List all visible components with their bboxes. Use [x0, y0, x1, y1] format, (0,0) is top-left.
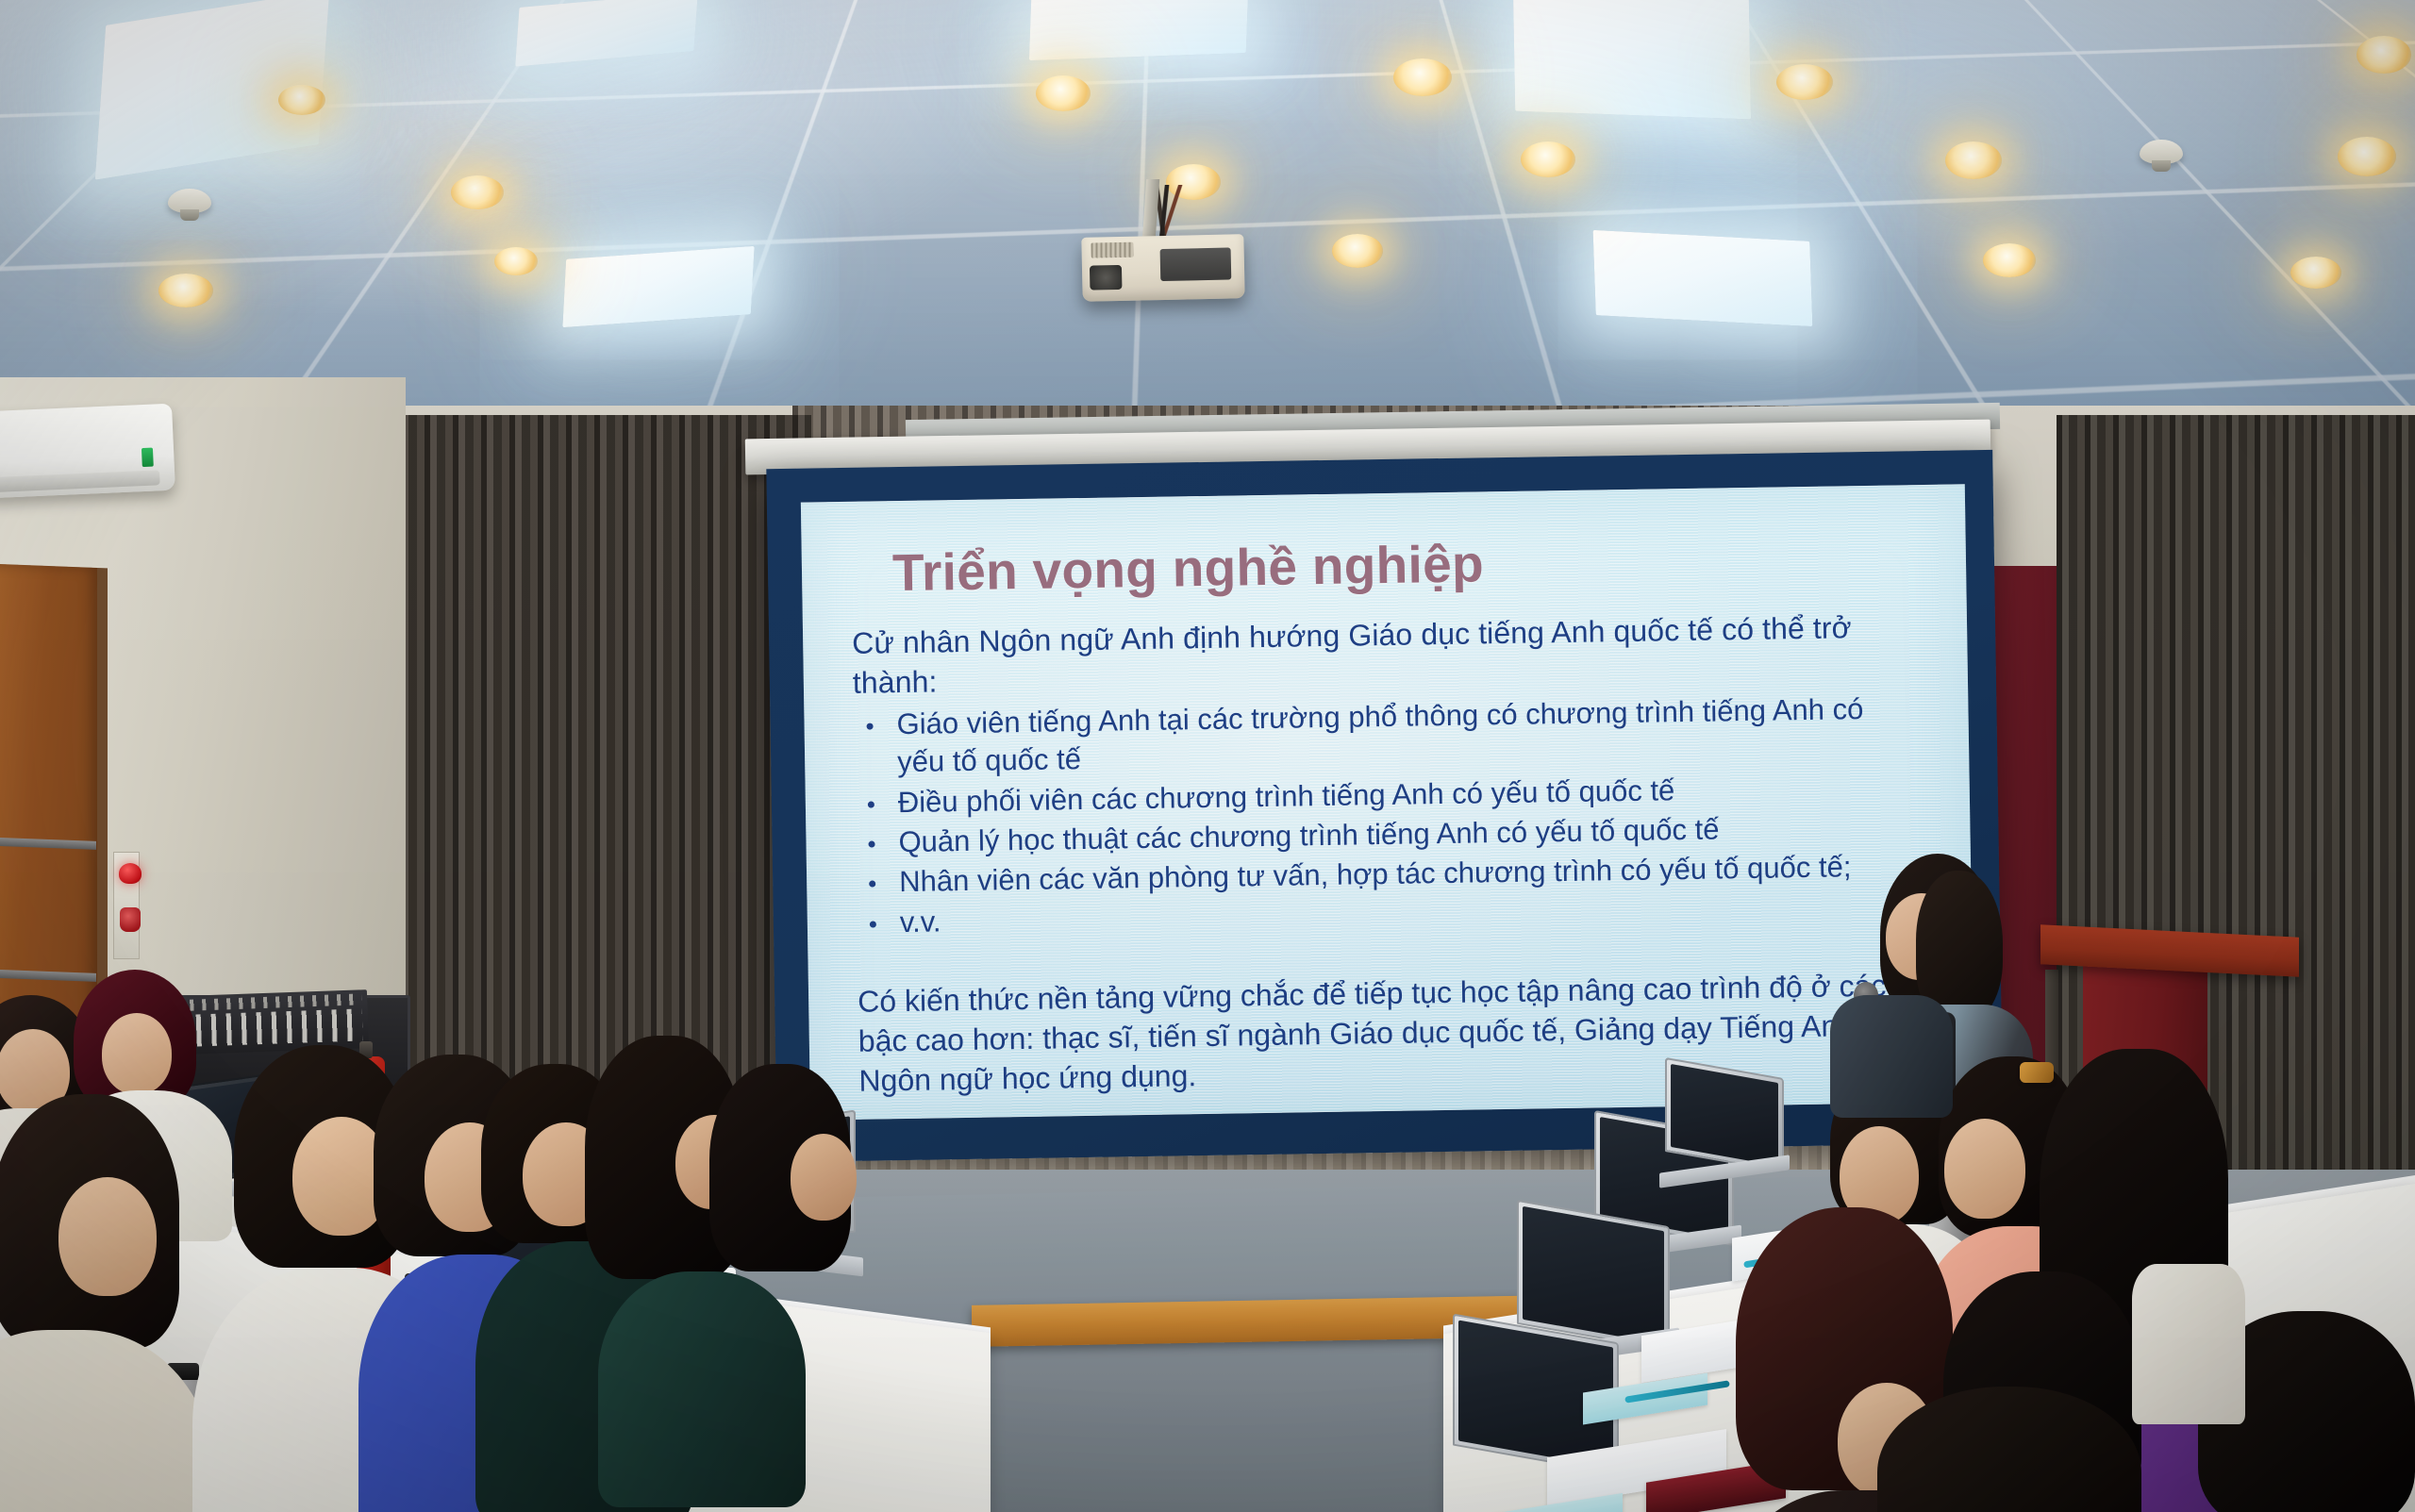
- attendee-head: [1944, 1119, 2025, 1219]
- conference-room-scene: Triển vọng nghề nghiệp Cử nhân Ngôn ngữ …: [0, 0, 2415, 1512]
- ceiling-panel-light: [1029, 0, 1248, 60]
- attendee-head: [58, 1177, 157, 1296]
- projector-icon: [1081, 234, 1244, 302]
- projector-vent: [1091, 242, 1134, 258]
- ceiling-downlight: [1983, 243, 2036, 277]
- ceiling-downlight: [2338, 137, 2396, 176]
- ceiling-downlight: [278, 85, 325, 115]
- fire-alarm-strobe-icon: [120, 907, 141, 932]
- door-push-bar: [0, 837, 96, 850]
- laptop-screen: [1523, 1206, 1664, 1344]
- attendee-torso: [1830, 995, 1953, 1118]
- smoke-detector-icon: [2140, 140, 2183, 164]
- slide-bullet-text: Điều phối viên các chương trình tiếng An…: [898, 773, 1675, 819]
- fire-alarm-bell-icon: [119, 863, 142, 884]
- ceiling-downlight: [2290, 257, 2341, 289]
- chair-back: [2132, 1264, 2245, 1424]
- ceiling-downlight: [2357, 36, 2411, 74]
- attendee-head: [791, 1134, 857, 1221]
- presentation-slide: Triển vọng nghề nghiệp Cử nhân Ngôn ngữ …: [801, 484, 1974, 1120]
- attendee-head: [102, 1013, 172, 1094]
- ceiling-downlight: [1776, 64, 1833, 100]
- projector-ports: [1159, 247, 1231, 281]
- slide-bullet-list: Giáo viên tiếng Anh tại các trường phổ t…: [853, 690, 1921, 941]
- ceiling-downlight: [494, 247, 538, 275]
- ceiling-downlight: [1332, 234, 1383, 268]
- projector-lens: [1090, 265, 1123, 291]
- ceiling-downlight: [1036, 75, 1091, 111]
- ceiling-panel-light: [1513, 0, 1751, 119]
- laptop-screen: [1671, 1064, 1778, 1166]
- air-conditioner-icon: [0, 404, 175, 499]
- door-push-bar: [0, 969, 96, 982]
- ceiling-downlight: [451, 175, 504, 209]
- ceiling-panel-light: [1593, 230, 1813, 326]
- ceiling-downlight: [1945, 141, 2002, 179]
- ceiling-panel-light: [562, 246, 754, 327]
- slide-bullet-text: Giáo viên tiếng Anh tại các trường phổ t…: [896, 692, 1863, 778]
- laptop[interactable]: [1665, 1162, 1786, 1179]
- projection-screen: Triển vọng nghề nghiệp Cử nhân Ngôn ngữ …: [766, 450, 2003, 1162]
- bullet-dot-icon: [869, 841, 875, 848]
- bullet-dot-icon: [867, 723, 874, 730]
- slide-bullet-item: Giáo viên tiếng Anh tại các trường phổ t…: [853, 690, 1918, 782]
- slide-title: Triển vọng nghề nghiệp: [892, 526, 1916, 603]
- hair-clip-icon: [2020, 1062, 2054, 1083]
- smoke-detector-icon: [168, 189, 211, 213]
- bullet-dot-icon: [870, 921, 876, 927]
- bullet-dot-icon: [868, 801, 874, 807]
- ac-led-indicator: [142, 448, 154, 468]
- slide-bullet-text: v.v.: [900, 905, 941, 939]
- ceiling-downlight: [1521, 141, 1575, 177]
- attendee-torso: [598, 1271, 806, 1507]
- bullet-dot-icon: [869, 881, 875, 888]
- ceiling-downlight: [158, 274, 213, 307]
- slide-lead-paragraph: Cử nhân Ngôn ngữ Anh định hướng Giáo dục…: [852, 607, 1917, 703]
- ceiling-downlight: [1393, 58, 1452, 96]
